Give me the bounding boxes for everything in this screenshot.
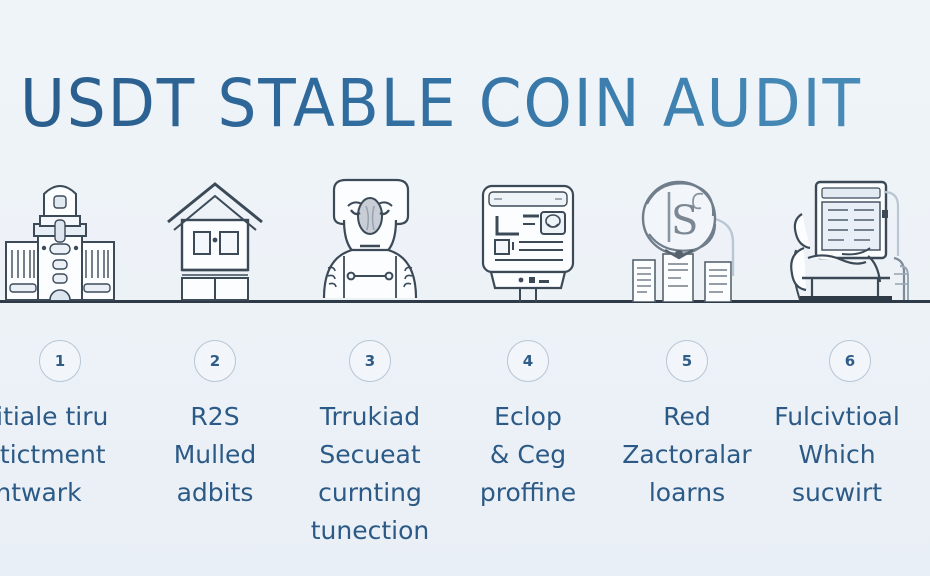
step-column-4: 4 Eclop & Ceg proffine bbox=[444, 176, 612, 302]
svg-text:S: S bbox=[671, 198, 698, 244]
step-caption-4: Eclop & Ceg proffine bbox=[444, 398, 612, 512]
caption-line: Trrukiad bbox=[286, 398, 454, 436]
step-number-5: 5 bbox=[666, 340, 708, 382]
step-caption-2: R2S Mulled adbits bbox=[131, 398, 299, 512]
step-column-6: 6 Fulcivtioal Which sucwirt bbox=[766, 176, 930, 302]
caption-line: sucwirt bbox=[740, 474, 930, 512]
house-icon bbox=[131, 176, 299, 302]
caption-line: Doitiale tiru bbox=[0, 398, 144, 436]
step-caption-3: Trrukiad Secueat curnting tunection bbox=[286, 398, 454, 550]
person-figure-icon bbox=[286, 176, 454, 302]
caption-line: adbits bbox=[131, 474, 299, 512]
caption-line: Secueat bbox=[286, 436, 454, 474]
desktop-monitor-icon bbox=[444, 176, 612, 302]
step-column-2: 2 R2S Mulled adbits bbox=[131, 176, 299, 302]
government-building-icon bbox=[0, 176, 144, 302]
caption-line: tunection bbox=[286, 512, 454, 550]
caption-line: & Ceg bbox=[444, 436, 612, 474]
step-column-5: S 5 Red Zactoralar loarns bbox=[603, 176, 771, 302]
caption-line: curnting bbox=[286, 474, 454, 512]
page-title: USDT STABLE COIN AUDIT bbox=[20, 58, 885, 150]
step-column-3: 3 Trrukiad Secueat curnting tunection bbox=[286, 176, 454, 302]
infographic-canvas: USDT STABLE COIN AUDIT bbox=[0, 0, 930, 576]
caption-line: proffine bbox=[444, 474, 612, 512]
step-number-3: 3 bbox=[349, 340, 391, 382]
step-number-6: 6 bbox=[829, 340, 871, 382]
globe-dollar-documents-icon: S bbox=[603, 176, 771, 302]
caption-line: Fulcivtioal bbox=[740, 398, 930, 436]
caption-line: Which bbox=[740, 436, 930, 474]
step-number-1: 1 bbox=[39, 340, 81, 382]
caption-line: intwark bbox=[0, 474, 144, 512]
caption-line: Eclop bbox=[444, 398, 612, 436]
person-at-workstation-icon bbox=[766, 176, 930, 302]
step-number-2: 2 bbox=[194, 340, 236, 382]
step-caption-6: Fulcivtioal Which sucwirt bbox=[740, 398, 930, 512]
caption-line: Mulled bbox=[131, 436, 299, 474]
caption-line: R2S bbox=[131, 398, 299, 436]
step-caption-1: Doitiale tiru Outictment intwark bbox=[0, 398, 144, 512]
caption-line: Outictment bbox=[0, 436, 144, 474]
step-column-1: 1 Doitiale tiru Outictment intwark bbox=[0, 176, 144, 302]
step-number-4: 4 bbox=[507, 340, 549, 382]
